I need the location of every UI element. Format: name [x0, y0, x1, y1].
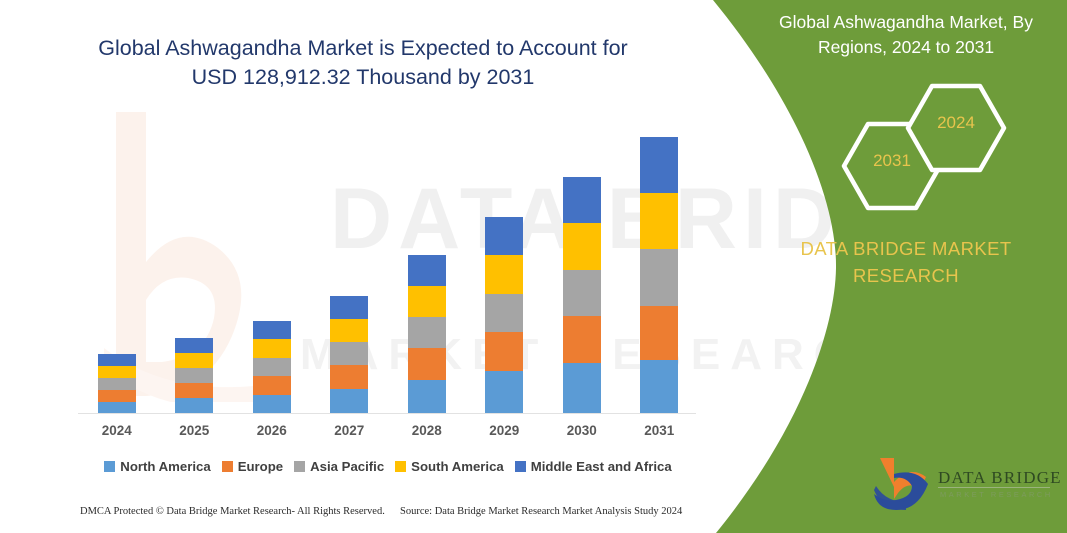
company-logo-mark-icon: [874, 456, 936, 512]
brand-name-line1: DATA BRIDGE MARKET: [800, 238, 1011, 259]
bar-segment: [485, 371, 523, 414]
legend-label: South America: [411, 459, 504, 474]
bar-segment: [175, 338, 213, 353]
legend-label: Asia Pacific: [310, 459, 384, 474]
brand-name-line2: RESEARCH: [853, 265, 959, 286]
x-axis-tick-2026: 2026: [242, 423, 302, 438]
bar-segment: [98, 354, 136, 366]
x-axis-labels: 20242025202620272028202920302031: [78, 420, 698, 444]
bar-segment: [408, 317, 446, 348]
bar-segment: [330, 389, 368, 414]
bar-segment: [640, 360, 678, 414]
bar-column-2030: [563, 177, 601, 414]
chart-legend: North AmericaEuropeAsia PacificSouth Ame…: [78, 455, 698, 477]
chart-baseline: [78, 413, 696, 414]
panel-heading-line1: Global Ashwagandha Market, By: [779, 12, 1033, 32]
bar-segment: [485, 217, 523, 255]
footer-source: Source: Data Bridge Market Research Mark…: [400, 506, 682, 517]
legend-item[interactable]: Middle East and Africa: [515, 459, 672, 474]
bar-segment: [253, 339, 291, 358]
footer-copyright: DMCA Protected © Data Bridge Market Rese…: [80, 506, 385, 517]
year-hexagons: 2031 2024: [744, 85, 1067, 210]
bar-column-2026: [253, 321, 291, 414]
legend-swatch-icon: [104, 461, 115, 472]
legend-item[interactable]: Asia Pacific: [294, 459, 384, 474]
bar-segment: [640, 249, 678, 306]
legend-swatch-icon: [395, 461, 406, 472]
legend-swatch-icon: [294, 461, 305, 472]
footer: DMCA Protected © Data Bridge Market Rese…: [80, 506, 700, 524]
bar-segment: [175, 353, 213, 368]
bar-segment: [563, 223, 601, 270]
bar-segment: [253, 358, 291, 376]
panel-heading-line2: Regions, 2024 to 2031: [818, 37, 994, 57]
legend-item[interactable]: Europe: [222, 459, 283, 474]
bar-segment: [408, 380, 446, 414]
legend-item[interactable]: South America: [395, 459, 504, 474]
x-axis-tick-2024: 2024: [87, 423, 147, 438]
bar-segment: [640, 137, 678, 193]
bar-segment: [640, 193, 678, 249]
bar-segment: [98, 366, 136, 378]
brand-name: DATA BRIDGE MARKET RESEARCH: [764, 235, 1048, 289]
bar-segment: [253, 321, 291, 339]
x-axis-tick-2030: 2030: [552, 423, 612, 438]
bar-column-2024: [98, 354, 136, 414]
bar-segment: [98, 390, 136, 402]
bar-segment: [408, 286, 446, 317]
bar-segment: [563, 363, 601, 414]
bar-segment: [563, 177, 601, 223]
bar-segment: [408, 348, 446, 380]
bar-segment: [253, 376, 291, 395]
bar-segment: [330, 319, 368, 342]
bar-segment: [485, 332, 523, 371]
legend-swatch-icon: [515, 461, 526, 472]
stacked-bar-chart: [78, 108, 698, 414]
x-axis-tick-2025: 2025: [164, 423, 224, 438]
legend-swatch-icon: [222, 461, 233, 472]
x-axis-tick-2031: 2031: [629, 423, 689, 438]
bar-column-2028: [408, 255, 446, 414]
bar-segment: [563, 316, 601, 363]
bar-column-2027: [330, 296, 368, 414]
bar-segment: [330, 342, 368, 365]
green-panel-content: Global Ashwagandha Market, By Regions, 2…: [744, 0, 1067, 533]
page-title-line2: 128,912.32 Thousand by 2031: [243, 65, 534, 89]
bar-segment: [175, 383, 213, 398]
bar-segment: [563, 270, 601, 316]
company-logo-divider: [938, 487, 1050, 488]
page-title: Global Ashwagandha Market is Expected to…: [78, 34, 648, 92]
infographic-canvas: DATA BRIDGE MARKET RESEARCH Global Ashwa…: [0, 0, 1067, 533]
bar-segment: [330, 365, 368, 389]
x-axis-tick-2029: 2029: [474, 423, 534, 438]
company-logo: DATA BRIDGE MARKET RESEARCH: [874, 456, 1064, 518]
x-axis-tick-2028: 2028: [397, 423, 457, 438]
bar-segment: [408, 255, 446, 286]
x-axis-tick-2027: 2027: [319, 423, 379, 438]
bar-column-2025: [175, 338, 213, 414]
bar-segment: [98, 378, 136, 390]
bar-segment: [175, 398, 213, 414]
legend-label: North America: [120, 459, 210, 474]
company-logo-name: DATA BRIDGE: [938, 468, 1062, 488]
company-logo-tagline: MARKET RESEARCH: [940, 490, 1053, 499]
bar-segment: [253, 395, 291, 414]
bar-segment: [175, 368, 213, 383]
bar-column-2031: [640, 137, 678, 414]
hexagon-2024-label: 2024: [904, 113, 1008, 133]
bar-segment: [640, 306, 678, 360]
legend-item[interactable]: North America: [104, 459, 210, 474]
legend-label: Middle East and Africa: [531, 459, 672, 474]
bar-segment: [485, 294, 523, 332]
legend-label: Europe: [238, 459, 283, 474]
bar-segment: [330, 296, 368, 319]
panel-heading: Global Ashwagandha Market, By Regions, 2…: [758, 10, 1054, 60]
bar-segment: [485, 255, 523, 294]
bar-column-2029: [485, 217, 523, 414]
